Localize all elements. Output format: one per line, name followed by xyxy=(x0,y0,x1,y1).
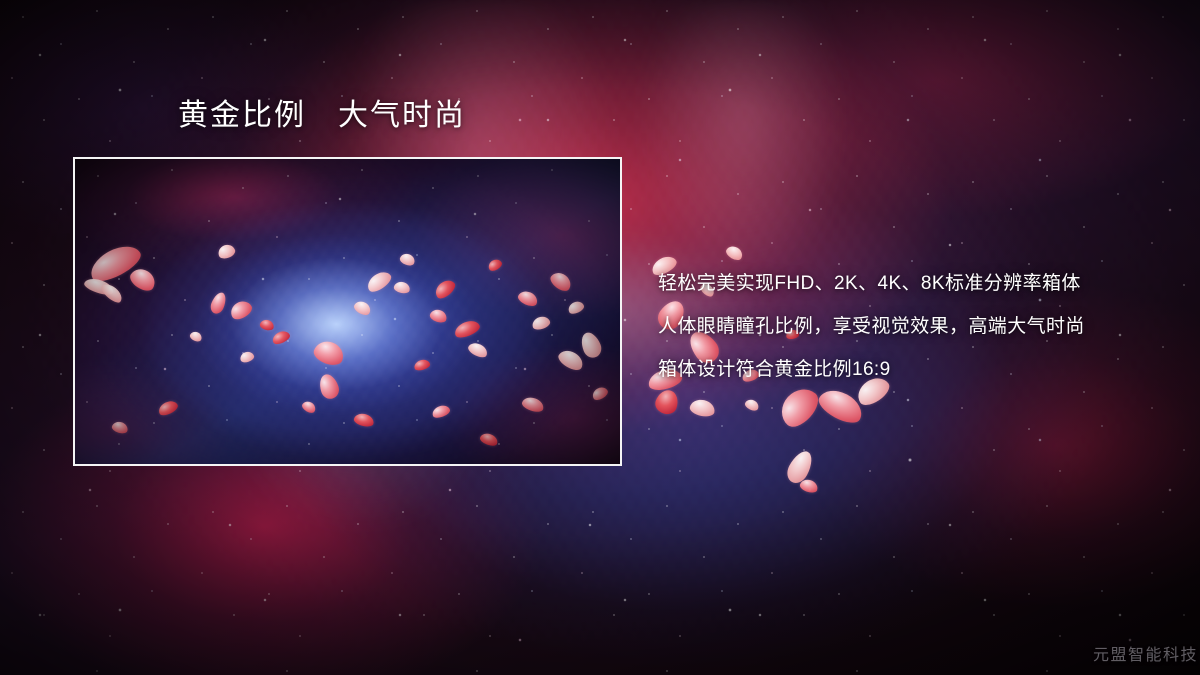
photo-frame xyxy=(73,157,622,466)
slide-title: 黄金比例 大气时尚 xyxy=(178,101,466,131)
petal xyxy=(653,387,682,417)
watermark: 元盟智能科技 xyxy=(1093,641,1198,665)
photo-vignette xyxy=(75,159,620,464)
photo-image xyxy=(75,159,620,464)
body-line-1: 轻松完美实现FHD、2K、4K、8K标准分辨率箱体 xyxy=(658,262,1178,305)
body-line-3: 箱体设计符合黄金比例16:9 xyxy=(658,348,1178,391)
petal xyxy=(783,447,817,486)
presentation-slide: 黄金比例 大气时尚 轻松完美实现FHD、2K、4K、8K标准分辨率箱体 人体眼睛… xyxy=(0,0,1200,675)
petal xyxy=(744,398,761,413)
body-line-2: 人体眼睛瞳孔比例，享受视觉效果，高端大气时尚 xyxy=(658,305,1178,348)
petal xyxy=(724,244,745,263)
petal xyxy=(799,478,820,495)
body-copy: 轻松完美实现FHD、2K、4K、8K标准分辨率箱体 人体眼睛瞳孔比例，享受视觉效… xyxy=(658,262,1178,391)
petal xyxy=(689,398,717,419)
